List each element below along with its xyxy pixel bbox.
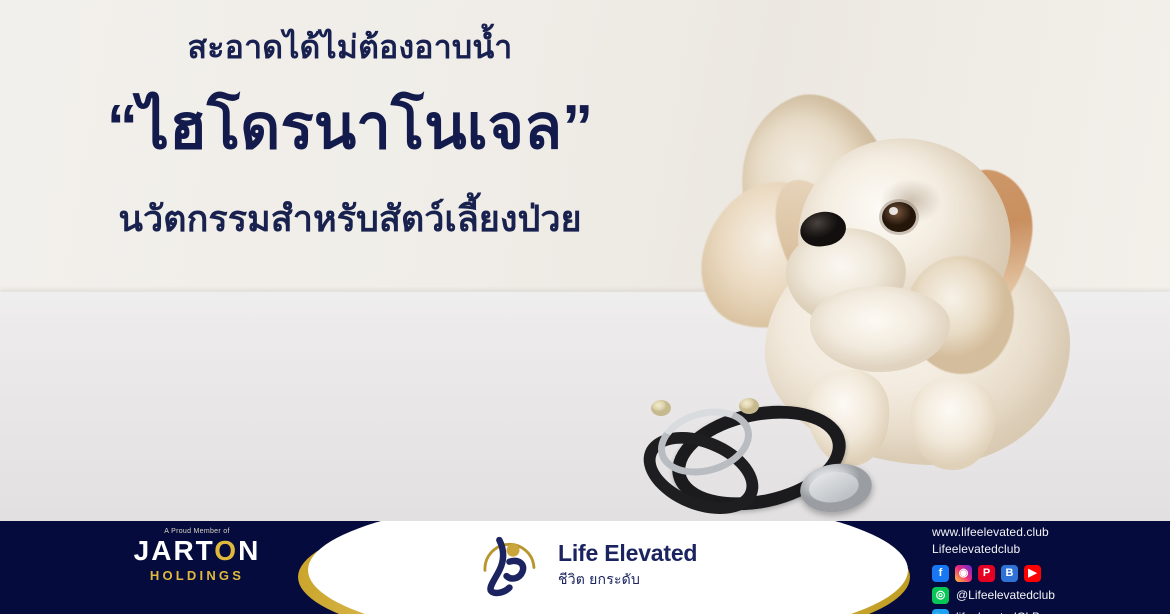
stethoscope-eartip-right <box>739 398 759 414</box>
headline-block: สะอาดได้ไม่ต้องอาบน้ำ “ไฮโดรนาโนเจล” นวั… <box>0 28 700 240</box>
social-handle: Lifeelevatedclub <box>932 541 1055 558</box>
twitter-handle: lifeelevatedCLB <box>956 610 1040 614</box>
line-icon: ◎ <box>932 587 949 604</box>
life-elevated-thai-tagline: ชีวิต ยกระดับ <box>558 569 697 591</box>
jarton-logo-o-icon: O <box>214 535 238 566</box>
pinterest-icon[interactable]: P <box>978 565 995 582</box>
line-row[interactable]: ◎ @Lifeelevatedclub <box>932 587 1055 604</box>
social-icon-row: f ◉ P B ▶ <box>932 565 1055 582</box>
stethoscope-eartip-left <box>651 400 671 416</box>
instagram-icon[interactable]: ◉ <box>955 565 972 582</box>
facebook-icon[interactable]: f <box>932 565 949 582</box>
blogger-icon[interactable]: B <box>1001 565 1018 582</box>
headline-line-3: นวัตกรรมสำหรับสัตว์เลี้ยงป่วย <box>0 197 700 240</box>
life-elevated-title: Life Elevated <box>558 541 697 566</box>
life-elevated-logo: Life Elevated ชีวิต ยกระดับ <box>472 530 697 602</box>
jarton-name-right: N <box>238 535 260 566</box>
twitter-icon: 🐦 <box>932 609 949 614</box>
dog-eye <box>882 202 916 232</box>
jarton-wordmark: JARTON <box>122 537 272 565</box>
promo-banner: สะอาดได้ไม่ต้องอาบน้ำ “ไฮโดรนาโนเจล” นวั… <box>0 0 1170 614</box>
jarton-member-label: A Proud Member of <box>122 528 272 535</box>
photo-stage: สะอาดได้ไม่ต้องอาบน้ำ “ไฮโดรนาโนเจล” นวั… <box>0 0 1170 521</box>
line-handle: @Lifeelevatedclub <box>956 588 1055 602</box>
jarton-name-left: JART <box>134 535 215 566</box>
website-url[interactable]: www.lifeelevated.club <box>932 524 1055 541</box>
twitter-row[interactable]: 🐦 lifeelevatedCLB <box>932 609 1055 614</box>
headline-line-1: สะอาดได้ไม่ต้องอาบน้ำ <box>0 28 700 66</box>
life-elevated-text: Life Elevated ชีวิต ยกระดับ <box>558 541 697 591</box>
jarton-subtitle: HOLDINGS <box>122 568 272 583</box>
life-elevated-mark-icon <box>472 530 544 602</box>
social-block: www.lifeelevated.club Lifeelevatedclub f… <box>932 524 1055 614</box>
youtube-icon[interactable]: ▶ <box>1024 565 1041 582</box>
jarton-holdings-logo: A Proud Member of JARTON HOLDINGS <box>122 528 272 583</box>
headline-line-2: “ไฮโดรนาโนเจล” <box>0 94 700 162</box>
stethoscope-prop <box>635 392 895 520</box>
